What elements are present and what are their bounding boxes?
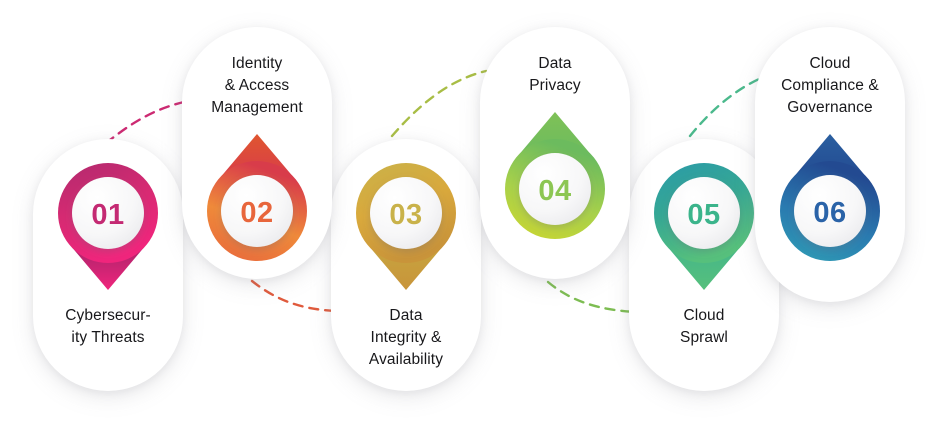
step-card-inner: 01Cybersecur- ity Threats <box>33 139 183 391</box>
step-label-02: Identity & Access Management <box>182 53 332 119</box>
step-marker-pin-06[interactable]: 06 <box>772 129 888 261</box>
step-marker-pin-04[interactable]: 04 <box>497 107 613 239</box>
step-card-02[interactable]: 02Identity & Access Management <box>182 27 332 279</box>
step-card-inner: 04Data Privacy <box>480 27 630 279</box>
step-card-03[interactable]: 03Data Integrity & Availability <box>331 139 481 391</box>
step-label-05: Cloud Sprawl <box>629 305 779 349</box>
connector-04-to-05 <box>548 282 636 312</box>
step-label-04: Data Privacy <box>480 53 630 97</box>
connector-01-to-02 <box>106 102 184 143</box>
step-card-01[interactable]: 01Cybersecur- ity Threats <box>33 139 183 391</box>
step-label-03: Data Integrity & Availability <box>331 305 481 371</box>
step-label-06: Cloud Compliance & Governance <box>755 53 905 119</box>
connector-03-to-04 <box>392 71 486 136</box>
step-card-04[interactable]: 04Data Privacy <box>480 27 630 279</box>
step-marker-pin-01[interactable]: 01 <box>50 163 166 295</box>
infographic-canvas: 01Cybersecur- ity Threats <box>0 0 931 421</box>
step-marker-pin-05[interactable]: 05 <box>646 163 762 295</box>
step-card-inner: 06Cloud Compliance & Governance <box>755 27 905 302</box>
step-card-06[interactable]: 06Cloud Compliance & Governance <box>755 27 905 302</box>
step-card-inner: 02Identity & Access Management <box>182 27 332 279</box>
step-marker-pin-02[interactable]: 02 <box>199 129 315 261</box>
step-marker-pin-03[interactable]: 03 <box>348 163 464 295</box>
step-label-01: Cybersecur- ity Threats <box>33 305 183 349</box>
step-card-inner: 03Data Integrity & Availability <box>331 139 481 391</box>
connector-02-to-03 <box>252 281 335 311</box>
